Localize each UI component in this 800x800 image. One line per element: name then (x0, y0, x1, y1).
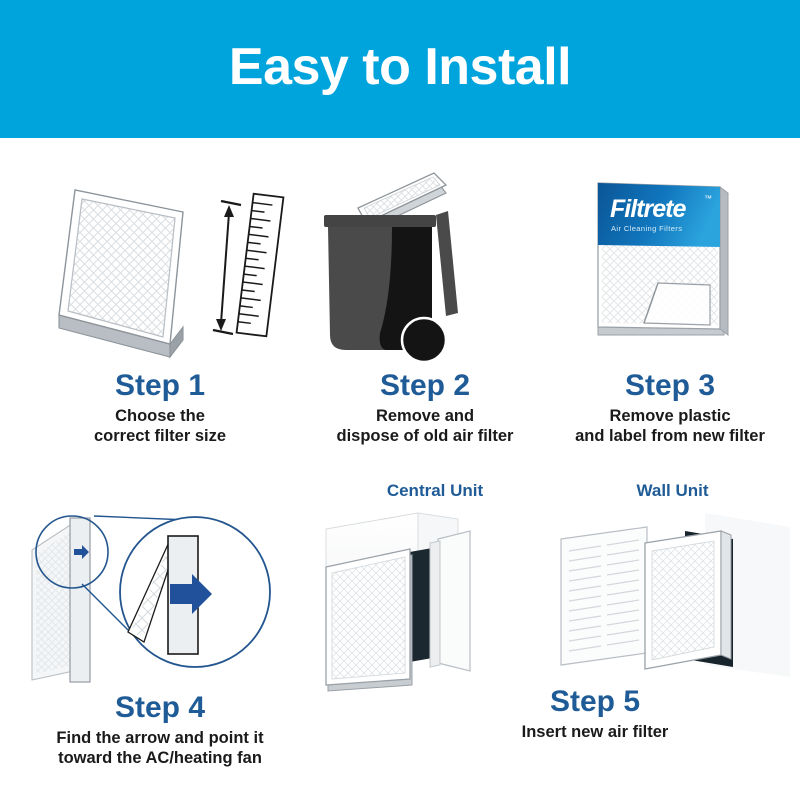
brand-tagline: Air Cleaning Filters (611, 224, 682, 233)
step-3-caption: Remove plastic and label from new filter (545, 406, 795, 447)
page-title: Easy to Install (229, 41, 571, 93)
step-1-heading: Step 1 (20, 370, 300, 402)
brand-trademark-icon: ™ (704, 194, 712, 203)
step-4-caption: Find the arrow and point it toward the A… (10, 728, 310, 769)
step-4-illustration (10, 492, 310, 692)
step-3-heading: Step 3 (545, 370, 795, 402)
step-card-2: Step 2 Remove and dispose of old air fil… (285, 165, 565, 447)
step-2-illustration (285, 165, 565, 370)
central-unit-label: Central Unit (320, 482, 550, 499)
step-5-caption: Insert new air filter (430, 722, 760, 743)
tilted-filter-with-ruler-icon (35, 165, 285, 370)
filtrete-packaged-filter-icon: Filtrete ™ Air Cleaning Filters (570, 165, 770, 370)
step-1-caption: Choose the correct filter size (20, 406, 300, 447)
header-banner: Easy to Install (0, 0, 800, 138)
step-card-5: Central Unit (320, 482, 790, 682)
step-card-4: Step 4 Find the arrow and point it towar… (10, 492, 310, 769)
step-card-3: Filtrete ™ Air Cleaning Filters Step 3 R… (545, 165, 795, 447)
step-2-heading: Step 2 (285, 370, 565, 402)
wall-unit-block: Wall Unit (555, 482, 790, 683)
step-4-heading: Step 4 (10, 692, 310, 724)
central-unit-slot-icon (320, 505, 550, 683)
step-2-caption: Remove and dispose of old air filter (285, 406, 565, 447)
trash-bin-with-old-filter-icon (300, 165, 550, 370)
brand-wordmark: Filtrete (610, 195, 686, 223)
wall-unit-label: Wall Unit (555, 482, 790, 499)
filter-edge-arrow-magnifier-icon (10, 492, 310, 692)
wall-unit-louver-door-icon (555, 505, 790, 683)
step-5-heading: Step 5 (430, 686, 760, 718)
step-3-illustration: Filtrete ™ Air Cleaning Filters (545, 165, 795, 370)
central-unit-block: Central Unit (320, 482, 550, 683)
step-card-1: Step 1 Choose the correct filter size (20, 165, 300, 447)
step-1-illustration (20, 165, 300, 370)
step-5-text-block: Step 5 Insert new air filter (430, 686, 760, 742)
